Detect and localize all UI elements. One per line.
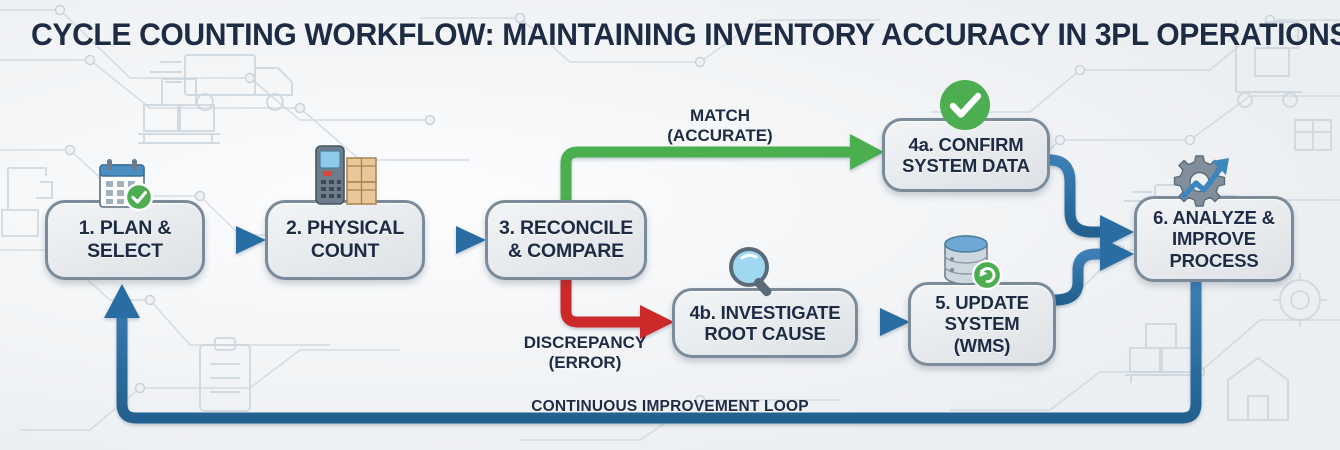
node-update-system[interactable]: 5. UPDATE SYSTEM (WMS) [908,282,1056,366]
node-investigate-root-cause[interactable]: 4b. INVESTIGATE ROOT CAUSE [672,288,858,358]
connector-confirm-to-analyze [1050,160,1134,249]
node-confirm-system-data-label: 4a. CONFIRM SYSTEM DATA [902,134,1030,177]
connector-discrepancy-error [566,278,674,339]
connector-update-to-analyze [1055,237,1134,300]
node-analyze-improve[interactable]: 6. ANALYZE & IMPROVE PROCESS [1134,196,1294,282]
page-title-text: CYCLE COUNTING WORKFLOW: MAINTAINING INV… [31,16,1340,53]
connector-investigate-to-update [858,308,910,336]
page-title: CYCLE COUNTING WORKFLOW: MAINTAINING INV… [0,16,1340,53]
node-reconcile-compare[interactable]: 3. RECONCILE & COMPARE [485,200,647,280]
node-plan-select[interactable]: 1. PLAN & SELECT [45,200,205,280]
node-physical-count-label: 2. PHYSICAL COUNT [286,217,404,262]
node-reconcile-compare-label: 3. RECONCILE & COMPARE [499,217,633,262]
edge-label-match: MATCH (ACCURATE) [620,106,820,147]
diagram-canvas: CYCLE COUNTING WORKFLOW: MAINTAINING INV… [0,0,1340,450]
edge-label-discrepancy: DISCREPANCY (ERROR) [490,333,680,374]
node-confirm-system-data[interactable]: 4a. CONFIRM SYSTEM DATA [882,118,1050,192]
node-physical-count[interactable]: 2. PHYSICAL COUNT [265,200,425,280]
connector-count-to-reconcile [430,226,486,254]
node-update-system-label: 5. UPDATE SYSTEM (WMS) [935,292,1028,356]
node-analyze-improve-label: 6. ANALYZE & IMPROVE PROCESS [1153,207,1275,271]
node-investigate-root-cause-label: 4b. INVESTIGATE ROOT CAUSE [690,302,841,345]
connector-plan-to-count [210,226,266,254]
edge-label-continuous-loop: CONTINUOUS IMPROVEMENT LOOP [470,398,870,417]
node-plan-select-label: 1. PLAN & SELECT [79,217,171,262]
